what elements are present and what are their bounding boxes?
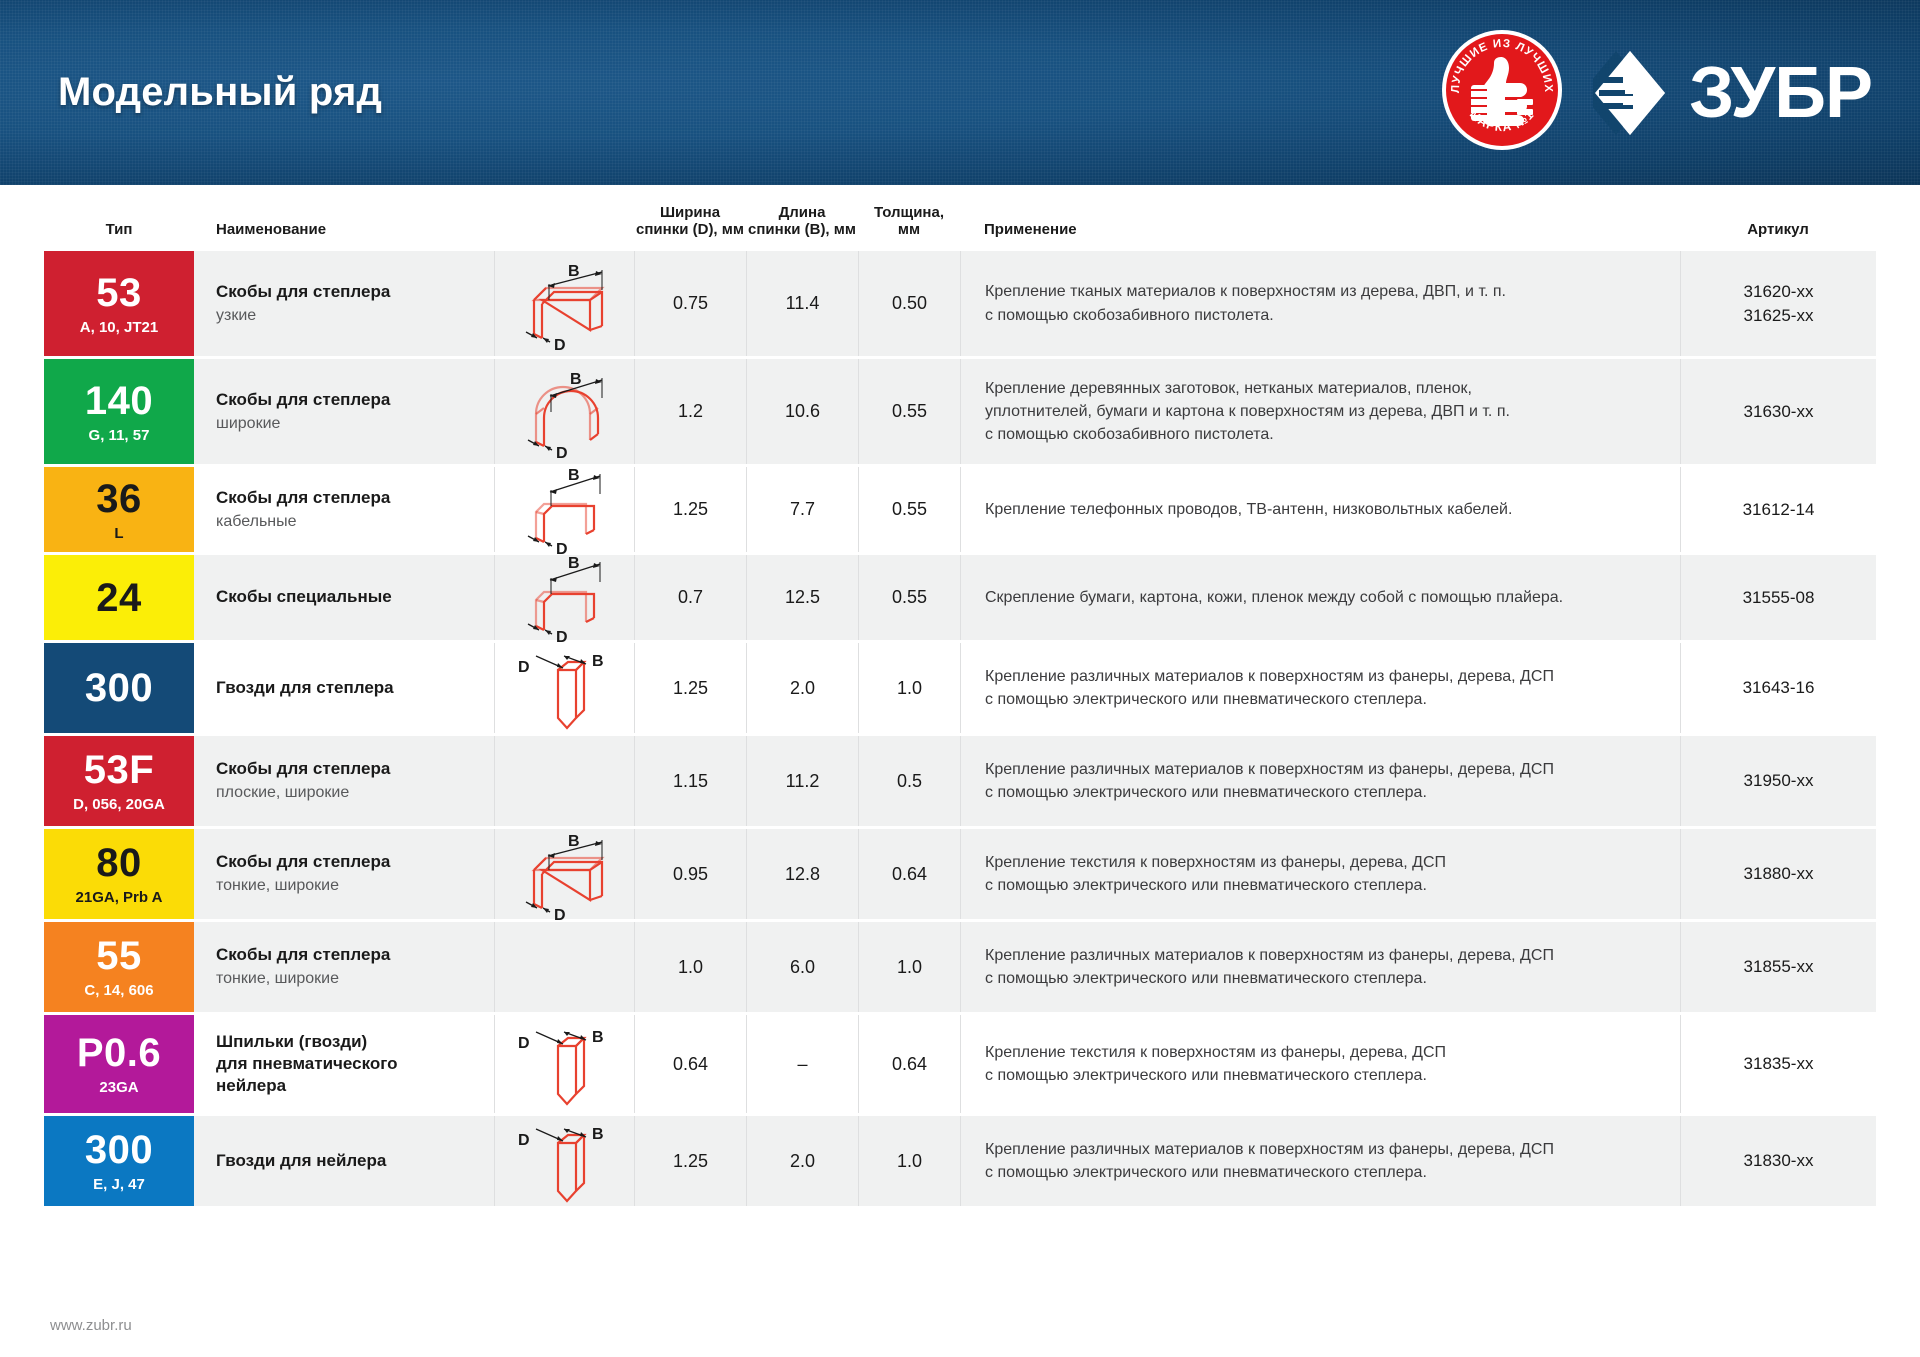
col-header-thickness: Толщина, мм — [858, 204, 960, 251]
row-application-cell: Крепление текстиля к поверхностям из фан… — [960, 1015, 1680, 1113]
row-name-cell: Скобы для степлера кабельные — [194, 467, 494, 552]
row-name-cell: Скобы для степлера тонкие, широкие — [194, 922, 494, 1012]
row-article-text: 31950-хх — [1744, 769, 1814, 793]
col-header-thickness-line1: Толщина, — [874, 204, 944, 221]
row-name-main-3: нейлера — [216, 1075, 286, 1097]
row-name-main: Скобы для степлера — [216, 281, 390, 303]
row-thickness-value: 0.64 — [858, 829, 960, 919]
row-length-value: 2.0 — [746, 643, 858, 733]
diagram-label-b: B — [568, 467, 580, 484]
row-length-value: 11.4 — [746, 251, 858, 356]
col-header-type: Тип — [44, 221, 194, 251]
col-header-width: Ширина спинки (D), мм — [634, 204, 746, 251]
diagram-label-b: B — [568, 833, 580, 850]
nail-diagram-icon: D B — [506, 1016, 624, 1112]
row-application-line-1: Крепление различных материалов к поверхн… — [985, 758, 1554, 781]
table-row[interactable]: 53 A, 10, JT21 Скобы для степлера узкие — [44, 251, 1876, 356]
table-row[interactable]: 24 Скобы специальные B D 0.7 — [44, 555, 1876, 640]
table-body: 53 A, 10, JT21 Скобы для степлера узкие — [44, 251, 1876, 1206]
row-article-cell: 31630-хх — [1680, 359, 1876, 464]
row-article-cell: 31555-08 — [1680, 555, 1876, 640]
row-article-text: 31643-16 — [1743, 676, 1815, 700]
row-name-cell: Гвозди для нейлера — [194, 1116, 494, 1206]
zubr-diamond-icon — [1593, 49, 1667, 137]
row-name-main: Скобы для степлера — [216, 851, 390, 873]
row-article-cell: 31612-14 — [1680, 467, 1876, 552]
row-width-value: 1.15 — [634, 736, 746, 826]
model-range-table: Тип Наименование Ширина спинки (D), мм Д… — [0, 185, 1920, 1206]
row-type-number: 140 — [85, 381, 153, 421]
row-application-line-1: Крепление телефонных проводов, ТВ-антенн… — [985, 498, 1512, 521]
row-thickness-value: 1.0 — [858, 1116, 960, 1206]
row-diagram-cell: D B — [494, 643, 634, 733]
diagram-label-b: B — [592, 1029, 604, 1046]
row-length-value: 12.5 — [746, 555, 858, 640]
row-thickness-value: 0.64 — [858, 1015, 960, 1113]
row-name-cell: Шпильки (гвозди) для пневматического ней… — [194, 1015, 494, 1113]
row-application-text: Крепление текстиля к поверхностям из фан… — [985, 851, 1446, 897]
row-type-number: 53F — [84, 750, 154, 790]
row-application-line-2: с помощью электрического или пневматичес… — [985, 1064, 1446, 1087]
row-name-sub: кабельные — [216, 511, 297, 533]
row-application-text: Крепление различных материалов к поверхн… — [985, 758, 1554, 804]
row-length-value: 6.0 — [746, 922, 858, 1012]
row-article-line-1: 31855-хх — [1744, 955, 1814, 979]
row-name-sub: плоские, широкие — [216, 782, 349, 804]
row-diagram-cell: B D — [494, 251, 634, 356]
row-application-line-1: Крепление различных материалов к поверхн… — [985, 665, 1554, 688]
diagram-label-d: D — [556, 445, 568, 460]
table-row[interactable]: 300 Гвозди для степлера D B 1.25 2.0 1.0 — [44, 643, 1876, 733]
row-application-line-1: Скрепление бумаги, картона, кожи, пленок… — [985, 586, 1563, 609]
row-name-sub: тонкие, широкие — [216, 968, 339, 990]
staple-square-diagram-icon: B D — [506, 826, 624, 922]
row-type-subtitle: D, 056, 20GA — [73, 797, 165, 812]
table-row[interactable]: P0.6 23GA Шпильки (гвозди) для пневматич… — [44, 1015, 1876, 1113]
brand-lockup: ЛУЧШИЕ ИЗ ЛУЧШИХ МАРКА №1 — [1441, 29, 1872, 156]
best-of-best-badge: ЛУЧШИЕ ИЗ ЛУЧШИХ МАРКА №1 — [1441, 29, 1563, 156]
row-application-line-2: с помощью электрического или пневматичес… — [985, 1161, 1554, 1184]
row-article-line-1: 31835-хх — [1744, 1052, 1814, 1076]
row-application-cell: Крепление деревянных заготовок, нетканых… — [960, 359, 1680, 464]
row-type-subtitle: G, 11, 57 — [89, 428, 150, 443]
row-name-main: Шпильки (гвозди) — [216, 1031, 367, 1053]
row-diagram-cell — [494, 736, 634, 826]
row-application-cell: Крепление различных материалов к поверхн… — [960, 736, 1680, 826]
row-article-line-1: 31643-16 — [1743, 676, 1815, 700]
row-diagram-cell: B D — [494, 359, 634, 464]
row-length-value: 2.0 — [746, 1116, 858, 1206]
row-type-badge[interactable]: 300 E, J, 47 — [44, 1116, 194, 1206]
row-application-line-2: с помощью электрического или пневматичес… — [985, 967, 1554, 990]
row-article-line-1: 31880-хх — [1744, 862, 1814, 886]
col-header-width-line1: Ширина — [660, 204, 720, 221]
row-name-main-2: для пневматического — [216, 1053, 398, 1075]
row-application-cell: Крепление телефонных проводов, ТВ-антенн… — [960, 467, 1680, 552]
row-application-cell: Скрепление бумаги, картона, кожи, пленок… — [960, 555, 1680, 640]
row-article-line-1: 31620-хх — [1744, 280, 1814, 304]
row-width-value: 0.7 — [634, 555, 746, 640]
nail-diagram-icon: D B — [506, 640, 624, 736]
table-row[interactable]: 140 G, 11, 57 Скобы для степлера широкие… — [44, 359, 1876, 464]
row-width-value: 1.25 — [634, 643, 746, 733]
col-header-article: Артикул — [1680, 221, 1876, 251]
row-name-cell: Скобы для степлера широкие — [194, 359, 494, 464]
row-type-number: 53 — [96, 273, 142, 313]
row-article-text: 31880-хх — [1744, 862, 1814, 886]
row-application-line-3: с помощью скобозабивного пистолета. — [985, 423, 1510, 446]
row-article-text: 31835-хх — [1744, 1052, 1814, 1076]
row-diagram-cell: D B — [494, 1015, 634, 1113]
staple-cable-diagram-icon: B D — [506, 550, 624, 646]
row-article-cell: 31830-хх — [1680, 1116, 1876, 1206]
row-thickness-value: 0.55 — [858, 555, 960, 640]
col-header-name: Наименование — [194, 221, 494, 251]
row-application-line-2: уплотнителей, бумаги и картона к поверхн… — [985, 400, 1510, 423]
row-name-sub: тонкие, широкие — [216, 875, 339, 897]
row-diagram-cell: D B — [494, 1116, 634, 1206]
row-type-badge[interactable]: 80 21GA, Prb A — [44, 829, 194, 919]
row-type-subtitle: L — [114, 526, 123, 541]
row-application-line-1: Крепление текстиля к поверхностям из фан… — [985, 1041, 1446, 1064]
diagram-label-b: B — [568, 263, 580, 280]
row-type-subtitle: A, 10, JT21 — [80, 320, 158, 335]
row-diagram-cell: B D — [494, 555, 634, 640]
row-article-cell: 31855-хх — [1680, 922, 1876, 1012]
row-application-cell: Крепление различных материалов к поверхн… — [960, 643, 1680, 733]
diagram-label-d: D — [518, 1132, 530, 1149]
row-type-number: P0.6 — [77, 1033, 161, 1073]
row-thickness-value: 0.55 — [858, 359, 960, 464]
site-url: www.zubr.ru — [50, 1317, 132, 1334]
row-application-text: Крепление различных материалов к поверхн… — [985, 1138, 1554, 1184]
row-type-badge[interactable]: 140 G, 11, 57 — [44, 359, 194, 464]
row-application-line-2: с помощью электрического или пневматичес… — [985, 688, 1554, 711]
diagram-label-b: B — [592, 1126, 604, 1143]
row-type-badge[interactable]: 53F D, 056, 20GA — [44, 736, 194, 826]
col-header-length-line2: спинки (B), мм — [748, 221, 856, 238]
row-type-number: 24 — [96, 578, 142, 618]
row-thickness-value: 1.0 — [858, 922, 960, 1012]
row-application-line-2: с помощью электрического или пневматичес… — [985, 874, 1446, 897]
row-type-subtitle: 23GA — [99, 1080, 138, 1095]
row-article-text: 31630-хх — [1744, 400, 1814, 424]
row-name-sub: узкие — [216, 305, 256, 327]
row-article-line-1: 31612-14 — [1743, 498, 1815, 522]
row-name-main: Скобы для степлера — [216, 487, 390, 509]
row-type-number: 80 — [96, 843, 142, 883]
row-article-cell: 31950-хх — [1680, 736, 1876, 826]
row-article-text: 31855-хх — [1744, 955, 1814, 979]
row-article-cell: 31880-хх — [1680, 829, 1876, 919]
row-application-line-1: Крепление различных материалов к поверхн… — [985, 1138, 1554, 1161]
row-article-text: 31620-хх31625-хх — [1744, 280, 1814, 328]
row-article-line-2: 31625-хх — [1744, 304, 1814, 328]
staple-cable-diagram-icon: B D — [506, 462, 624, 558]
row-width-value: 1.0 — [634, 922, 746, 1012]
diagram-label-d: D — [554, 337, 566, 352]
row-article-cell: 31643-16 — [1680, 643, 1876, 733]
staple-square-diagram-icon: B D — [506, 256, 624, 352]
row-article-text: 31612-14 — [1743, 498, 1815, 522]
row-application-line-1: Крепление различных материалов к поверхн… — [985, 944, 1554, 967]
row-name-main: Гвозди для степлера — [216, 677, 394, 699]
page-footer: www.zubr.ru — [0, 1317, 1920, 1357]
staple-round-diagram-icon: B D — [506, 364, 624, 460]
row-length-value: 11.2 — [746, 736, 858, 826]
row-name-cell: Скобы для степлера узкие — [194, 251, 494, 356]
row-name-main: Скобы специальные — [216, 586, 392, 608]
row-article-text: 31555-08 — [1743, 586, 1815, 610]
row-article-line-1: 31630-хх — [1744, 400, 1814, 424]
row-type-number: 300 — [85, 1130, 153, 1170]
page-header: Модельный ряд — [0, 0, 1920, 185]
badge-circle-icon: ЛУЧШИЕ ИЗ ЛУЧШИХ МАРКА №1 — [1441, 29, 1563, 151]
row-type-subtitle: E, J, 47 — [93, 1177, 145, 1192]
row-application-text: Скрепление бумаги, картона, кожи, пленок… — [985, 586, 1563, 609]
row-width-value: 1.25 — [634, 1116, 746, 1206]
row-type-number: 300 — [85, 668, 153, 708]
diagram-label-d: D — [554, 907, 566, 922]
row-width-value: 0.95 — [634, 829, 746, 919]
row-application-line-1: Крепление деревянных заготовок, нетканых… — [985, 377, 1510, 400]
row-application-text: Крепление текстиля к поверхностям из фан… — [985, 1041, 1446, 1087]
row-name-sub: широкие — [216, 413, 280, 435]
row-type-badge[interactable]: P0.6 23GA — [44, 1015, 194, 1113]
row-type-badge[interactable]: 53 A, 10, JT21 — [44, 251, 194, 356]
zubr-logo: ЗУБР — [1593, 49, 1872, 137]
row-name-cell: Скобы для степлера плоские, широкие — [194, 736, 494, 826]
row-application-line-2: с помощью скобозабивного пистолета. — [985, 304, 1506, 327]
row-application-cell: Крепление различных материалов к поверхн… — [960, 922, 1680, 1012]
row-article-cell: 31835-хх — [1680, 1015, 1876, 1113]
row-type-number: 55 — [96, 936, 142, 976]
nail-diagram-icon: D B — [506, 1113, 624, 1209]
row-article-line-1: 31555-08 — [1743, 586, 1815, 610]
row-name-cell: Гвозди для степлера — [194, 643, 494, 733]
row-diagram-cell: B D — [494, 829, 634, 919]
diagram-label-b: B — [568, 555, 580, 572]
row-thickness-value: 1.0 — [858, 643, 960, 733]
row-type-number: 36 — [96, 479, 142, 519]
row-type-badge[interactable]: 24 — [44, 555, 194, 640]
row-article-line-1: 31830-хх — [1744, 1149, 1814, 1173]
row-name-main: Скобы для степлера — [216, 758, 390, 780]
row-application-cell: Крепление тканых материалов к поверхност… — [960, 251, 1680, 356]
row-application-text: Крепление телефонных проводов, ТВ-антенн… — [985, 498, 1512, 521]
diagram-label-d: D — [518, 659, 530, 676]
row-application-text: Крепление различных материалов к поверхн… — [985, 944, 1554, 990]
row-length-value: – — [746, 1015, 858, 1113]
diagram-label-b: B — [570, 371, 582, 388]
col-header-length: Длина спинки (B), мм — [746, 204, 858, 251]
row-application-text: Крепление деревянных заготовок, нетканых… — [985, 377, 1510, 447]
row-name-main: Скобы для степлера — [216, 389, 390, 411]
row-name-cell: Скобы для степлера тонкие, широкие — [194, 829, 494, 919]
col-header-diagram — [494, 239, 634, 251]
row-width-value: 0.64 — [634, 1015, 746, 1113]
row-name-cell: Скобы специальные — [194, 555, 494, 640]
row-width-value: 1.2 — [634, 359, 746, 464]
row-diagram-cell — [494, 922, 634, 1012]
table-row[interactable]: 80 21GA, Prb A Скобы для степлера тонкие… — [44, 829, 1876, 919]
row-type-subtitle: C, 14, 606 — [84, 983, 153, 998]
col-header-width-line2: спинки (D), мм — [636, 221, 744, 238]
row-width-value: 1.25 — [634, 467, 746, 552]
row-name-main: Гвозди для нейлера — [216, 1150, 386, 1172]
row-application-line-1: Крепление текстиля к поверхностям из фан… — [985, 851, 1446, 874]
row-article-cell: 31620-хх31625-хх — [1680, 251, 1876, 356]
row-application-cell: Крепление текстиля к поверхностям из фан… — [960, 829, 1680, 919]
row-application-text: Крепление различных материалов к поверхн… — [985, 665, 1554, 711]
row-application-line-2: с помощью электрического или пневматичес… — [985, 781, 1554, 804]
table-row[interactable]: 53F D, 056, 20GA Скобы для степлера плос… — [44, 736, 1876, 826]
row-length-value: 7.7 — [746, 467, 858, 552]
row-name-main: Скобы для степлера — [216, 944, 390, 966]
model-range-page: Модельный ряд — [0, 0, 1920, 1357]
brand-wordmark: ЗУБР — [1689, 57, 1872, 129]
diagram-label-d: D — [518, 1035, 530, 1052]
row-application-text: Крепление тканых материалов к поверхност… — [985, 280, 1506, 326]
row-article-line-1: 31950-хх — [1744, 769, 1814, 793]
table-row[interactable]: 55 C, 14, 606 Скобы для степлера тонкие,… — [44, 922, 1876, 1012]
row-diagram-cell: B D — [494, 467, 634, 552]
table-header-row: Тип Наименование Ширина спинки (D), мм Д… — [44, 185, 1876, 251]
col-header-length-line1: Длина — [779, 204, 826, 221]
row-length-value: 10.6 — [746, 359, 858, 464]
row-type-badge[interactable]: 55 C, 14, 606 — [44, 922, 194, 1012]
row-thickness-value: 0.50 — [858, 251, 960, 356]
row-thickness-value: 0.55 — [858, 467, 960, 552]
page-title: Модельный ряд — [58, 70, 382, 115]
row-application-line-1: Крепление тканых материалов к поверхност… — [985, 280, 1506, 303]
col-header-thickness-line2: мм — [898, 221, 920, 238]
row-article-text: 31830-хх — [1744, 1149, 1814, 1173]
table-row[interactable]: 300 E, J, 47 Гвозди для нейлера D B 1.25… — [44, 1116, 1876, 1206]
row-thickness-value: 0.5 — [858, 736, 960, 826]
row-width-value: 0.75 — [634, 251, 746, 356]
row-application-cell: Крепление различных материалов к поверхн… — [960, 1116, 1680, 1206]
row-type-subtitle: 21GA, Prb A — [76, 890, 163, 905]
diagram-label-b: B — [592, 653, 604, 670]
col-header-application: Применение — [960, 221, 1680, 251]
table-row[interactable]: 36 L Скобы для степлера кабельные B D — [44, 467, 1876, 552]
row-length-value: 12.8 — [746, 829, 858, 919]
row-type-badge[interactable]: 300 — [44, 643, 194, 733]
row-type-badge[interactable]: 36 L — [44, 467, 194, 552]
